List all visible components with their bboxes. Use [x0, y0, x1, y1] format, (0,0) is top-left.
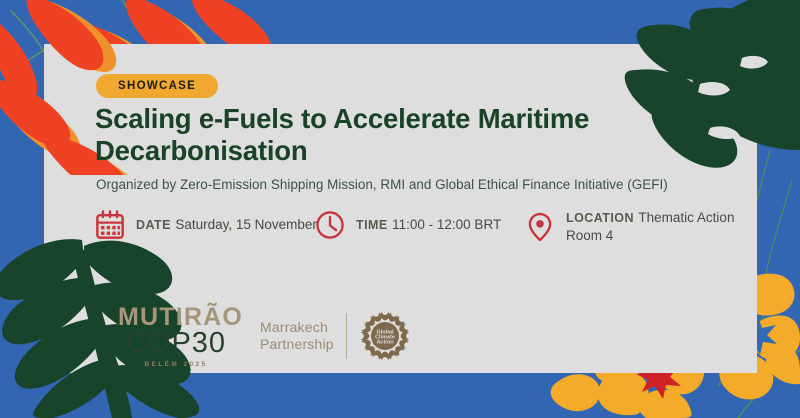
cop30-logo-belem: BELÉM 2025	[118, 361, 234, 368]
meta-item-date: DATE Saturday, 15 November	[95, 209, 317, 241]
organizer-text: Organized by Zero-Emission Shipping Miss…	[96, 176, 746, 193]
meta-label-location: LOCATION	[566, 211, 634, 225]
marrakech-line-1: Marrakech	[260, 319, 334, 336]
meta-label-date: DATE	[136, 218, 171, 232]
marrakech-line-2: Partnership	[260, 336, 334, 353]
event-meta-row: DATE Saturday, 15 November TIME 11:00 - …	[95, 209, 755, 255]
calendar-icon	[95, 209, 125, 241]
meta-item-location: LOCATION Thematic Action Room 4	[525, 209, 755, 245]
global-climate-action-emblem-icon: Global Climate Action	[360, 311, 410, 361]
cop30-logo: MUTIRÃO COP30 BELÉM 2025	[118, 305, 234, 368]
marrakech-partnership-logo: Marrakech Partnership	[260, 311, 410, 361]
meta-value-time: 11:00 - 12:00 BRT	[392, 217, 501, 232]
cop30-logo-cop30: COP30	[118, 329, 234, 358]
event-poster: SHOWCASE Scaling e-Fuels to Accelerate M…	[0, 0, 800, 418]
meta-item-time: TIME 11:00 - 12:00 BRT	[315, 209, 501, 241]
logo-divider	[346, 313, 347, 359]
emblem-line-3: Action	[376, 340, 394, 346]
clock-icon	[315, 209, 345, 241]
showcase-badge: SHOWCASE	[96, 74, 218, 98]
marrakech-partnership-text: Marrakech Partnership	[260, 319, 346, 353]
meta-label-time: TIME	[356, 218, 388, 232]
location-pin-icon	[525, 211, 555, 243]
footer-logos: MUTIRÃO COP30 BELÉM 2025 Marrakech Partn…	[118, 305, 410, 367]
page-title: Scaling e-Fuels to Accelerate Maritime D…	[95, 103, 695, 167]
meta-value-date: Saturday, 15 November	[175, 217, 317, 232]
cop30-logo-mutirao: MUTIRÃO	[118, 305, 234, 330]
